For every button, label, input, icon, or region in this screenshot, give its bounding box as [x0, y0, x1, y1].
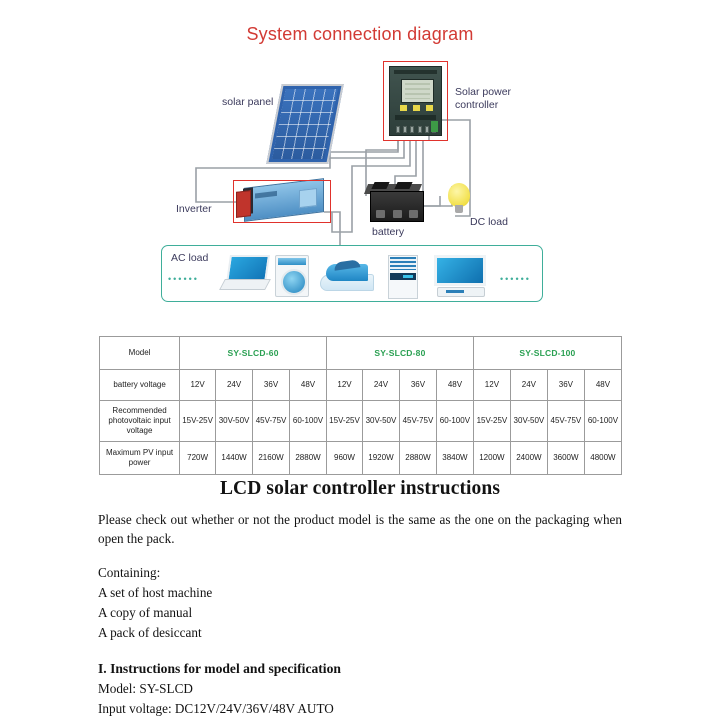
max-label-line2: power: [129, 458, 151, 467]
cell-battery-voltage: 48V: [436, 370, 473, 401]
table-header-model: Model: [100, 337, 180, 370]
cell-battery-voltage: 48V: [290, 370, 327, 401]
cell-max-power: 960W: [327, 442, 363, 475]
battery-vent-caps: [376, 210, 418, 218]
ac-load-dots-right: ••••••: [500, 274, 531, 284]
table-row-max-power: Maximum PV input power 720W 1440W 2160W …: [100, 442, 622, 475]
cell-battery-voltage: 12V: [473, 370, 510, 401]
cell-battery-voltage: 24V: [362, 370, 399, 401]
cell-max-power: 3840W: [436, 442, 473, 475]
table-header-battery-voltage: battery voltage: [100, 370, 180, 401]
cell-max-power: 1200W: [473, 442, 510, 475]
cell-max-power: 3600W: [547, 442, 584, 475]
containing-label: Containing:: [98, 563, 622, 583]
document-title: LCD solar controller instructions: [0, 478, 720, 500]
input-voltage-line: Input voltage: DC12V/24V/36V/48V AUTO: [98, 699, 622, 719]
washing-machine-icon: [275, 255, 309, 297]
table-row-model: Model SY-SLCD-60 SY-SLCD-80 SY-SLCD-100: [100, 337, 622, 370]
cell-pv-voltage: 15V-25V: [473, 401, 510, 442]
cell-pv-voltage: 45V-75V: [253, 401, 290, 442]
cell-pv-voltage: 60-100V: [436, 401, 473, 442]
solar-panel-label: solar panel: [222, 96, 273, 108]
intro-paragraph: Please check out whether or not the prod…: [98, 510, 622, 548]
model-line: Model: SY-SLCD: [98, 679, 622, 699]
cell-pv-voltage: 15V-25V: [327, 401, 363, 442]
laptop-icon: [222, 255, 266, 293]
cell-battery-voltage: 12V: [180, 370, 216, 401]
light-bulb-icon: [448, 183, 470, 207]
cell-battery-voltage: 36V: [547, 370, 584, 401]
cell-pv-voltage: 30V-50V: [216, 401, 253, 442]
table-row-battery-voltage: battery voltage 12V 24V 36V 48V 12V 24V …: [100, 370, 622, 401]
cell-pv-voltage: 60-100V: [584, 401, 621, 442]
cell-battery-voltage: 24V: [510, 370, 547, 401]
inverter-highlight-box: [233, 180, 331, 223]
cell-max-power: 2400W: [510, 442, 547, 475]
cell-pv-voltage: 45V-75V: [547, 401, 584, 442]
system-connection-diagram: System connection diagram solar panel: [0, 0, 720, 322]
table-header-max-power: Maximum PV input power: [100, 442, 180, 475]
iron-icon: [320, 255, 372, 291]
cell-battery-voltage: 36V: [253, 370, 290, 401]
cell-max-power: 2880W: [399, 442, 436, 475]
ac-load-dots-left: ••••••: [168, 274, 199, 284]
cell-pv-voltage: 15V-25V: [180, 401, 216, 442]
model-sy-slcd-100: SY-SLCD-100: [473, 337, 621, 370]
ac-load-label: AC load: [171, 252, 208, 264]
containing-item: A pack of desiccant: [98, 623, 622, 643]
cell-pv-voltage: 45V-75V: [399, 401, 436, 442]
specification-table: Model SY-SLCD-60 SY-SLCD-80 SY-SLCD-100 …: [99, 336, 622, 475]
cell-pv-voltage: 60-100V: [290, 401, 327, 442]
cell-battery-voltage: 24V: [216, 370, 253, 401]
inverter-label: Inverter: [176, 203, 212, 215]
cell-battery-voltage: 36V: [399, 370, 436, 401]
controller-highlight-box: [383, 61, 448, 141]
table-header-pv-voltage: Recommended photovoltaic input voltage: [100, 401, 180, 442]
model-sy-slcd-80: SY-SLCD-80: [327, 337, 474, 370]
cell-battery-voltage: 48V: [584, 370, 621, 401]
cell-pv-voltage: 30V-50V: [362, 401, 399, 442]
battery-label: battery: [372, 226, 404, 238]
pv-label-line2: photovoltaic input: [108, 416, 170, 425]
containing-item: A copy of manual: [98, 603, 622, 623]
dc-load-label: DC load: [470, 216, 508, 228]
max-label-line1: Maximum PV input: [106, 448, 173, 457]
cell-battery-voltage: 12V: [327, 370, 363, 401]
table-row-pv-voltage: Recommended photovoltaic input voltage 1…: [100, 401, 622, 442]
solar-controller-label: Solar power controller: [455, 86, 535, 112]
air-conditioner-icon: [388, 255, 418, 299]
cell-max-power: 1920W: [362, 442, 399, 475]
pv-label-line1: Recommended: [112, 406, 166, 415]
section-heading-model-spec: I. Instructions for model and specificat…: [98, 659, 622, 679]
cell-max-power: 4800W: [584, 442, 621, 475]
cell-max-power: 2880W: [290, 442, 327, 475]
specification-table-container: Model SY-SLCD-60 SY-SLCD-80 SY-SLCD-100 …: [99, 336, 622, 475]
pv-label-line3: voltage: [127, 426, 153, 435]
light-bulb-base: [455, 205, 463, 213]
instructions-document: LCD solar controller instructions Please…: [0, 478, 720, 719]
cell-max-power: 720W: [180, 442, 216, 475]
cell-max-power: 2160W: [253, 442, 290, 475]
model-sy-slcd-60: SY-SLCD-60: [180, 337, 327, 370]
cell-pv-voltage: 30V-50V: [510, 401, 547, 442]
monitor-icon: [434, 255, 486, 297]
containing-item: A set of host machine: [98, 583, 622, 603]
cell-max-power: 1440W: [216, 442, 253, 475]
